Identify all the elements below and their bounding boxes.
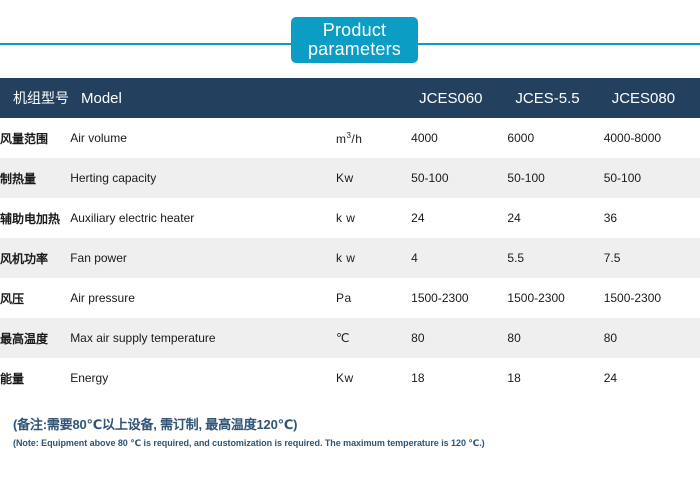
title-banner-zone: Product parameters — [0, 0, 700, 78]
row-value-jces-5-5: 5.5 — [507, 238, 603, 278]
footer-note-en: (Note: Equipment above 80 ℃ is required,… — [13, 438, 700, 449]
row-label-cn: 能量 — [0, 358, 70, 398]
product-parameters-table: 机组型号Model JCES060 JCES-5.5 JCES080 风量范围 … — [0, 78, 700, 398]
row-unit: Pa — [336, 278, 411, 318]
header-model-label-cn: 机组型号 — [13, 90, 69, 106]
page-title-chip: Product parameters — [291, 17, 418, 63]
row-value-jces-5-5: 1500-2300 — [507, 278, 603, 318]
table-body: 风量范围 Air volume m3/h 4000 6000 4000-8000… — [0, 118, 700, 398]
row-value-jces-5-5: 6000 — [507, 118, 603, 158]
row-label-en: Auxiliary electric heater — [70, 198, 336, 238]
row-unit: Kw — [336, 158, 411, 198]
row-label-en: Air pressure — [70, 278, 336, 318]
table-row: 风量范围 Air volume m3/h 4000 6000 4000-8000 — [0, 118, 700, 158]
row-value-jces060: 50-100 — [411, 158, 507, 198]
header-column-jces080: JCES080 — [604, 78, 700, 118]
row-label-en: Max air supply temperature — [70, 318, 336, 358]
footer-note-cn: (备注:需要80℃以上设备, 需订制, 最高温度120℃) — [13, 414, 700, 433]
row-value-jces060: 4 — [411, 238, 507, 278]
table-row: 最高温度 Max air supply temperature ℃ 80 80 … — [0, 318, 700, 358]
header-model-label-en: Model — [81, 90, 122, 107]
table-row: 辅助电加热 Auxiliary electric heater k w 24 2… — [0, 198, 700, 238]
table-row: 制热量 Herting capacity Kw 50-100 50-100 50… — [0, 158, 700, 198]
row-label-cn: 风机功率 — [0, 238, 70, 278]
row-unit: Kw — [336, 358, 411, 398]
row-label-en: Air volume — [70, 118, 336, 158]
table-header: 机组型号Model JCES060 JCES-5.5 JCES080 — [0, 78, 700, 118]
row-value-jces080: 50-100 — [604, 158, 700, 198]
row-unit: k w — [336, 238, 411, 278]
row-unit: ℃ — [336, 318, 411, 358]
row-label-cn: 风量范围 — [0, 118, 70, 158]
row-value-jces060: 1500-2300 — [411, 278, 507, 318]
row-value-jces080: 36 — [604, 198, 700, 238]
row-label-cn: 最高温度 — [0, 318, 70, 358]
row-label-en: Fan power — [70, 238, 336, 278]
header-model-cell: 机组型号Model — [0, 78, 336, 118]
row-value-jces-5-5: 24 — [507, 198, 603, 238]
row-value-jces060: 4000 — [411, 118, 507, 158]
header-column-jces-5-5: JCES-5.5 — [507, 78, 603, 118]
table-row: 能量 Energy Kw 18 18 24 — [0, 358, 700, 398]
row-value-jces080: 24 — [604, 358, 700, 398]
row-unit: k w — [336, 198, 411, 238]
row-value-jces060: 18 — [411, 358, 507, 398]
page-title-line2: parameters — [308, 40, 401, 59]
row-label-cn: 风压 — [0, 278, 70, 318]
footer-notes: (备注:需要80℃以上设备, 需订制, 最高温度120℃) (Note: Equ… — [0, 398, 700, 449]
table-row: 风压 Air pressure Pa 1500-2300 1500-2300 1… — [0, 278, 700, 318]
row-value-jces-5-5: 50-100 — [507, 158, 603, 198]
row-value-jces080: 7.5 — [604, 238, 700, 278]
row-value-jces060: 24 — [411, 198, 507, 238]
row-value-jces080: 4000-8000 — [604, 118, 700, 158]
row-unit: m3/h — [336, 118, 411, 158]
row-value-jces-5-5: 80 — [507, 318, 603, 358]
page-title-line1: Product — [323, 21, 386, 40]
row-value-jces080: 80 — [604, 318, 700, 358]
row-label-cn: 辅助电加热 — [0, 198, 70, 238]
row-label-en: Herting capacity — [70, 158, 336, 198]
row-label-cn: 制热量 — [0, 158, 70, 198]
row-value-jces060: 80 — [411, 318, 507, 358]
row-label-en: Energy — [70, 358, 336, 398]
row-value-jces-5-5: 18 — [507, 358, 603, 398]
table-header-row: 机组型号Model JCES060 JCES-5.5 JCES080 — [0, 78, 700, 118]
table-row: 风机功率 Fan power k w 4 5.5 7.5 — [0, 238, 700, 278]
header-unit-cell — [336, 78, 411, 118]
header-column-jces060: JCES060 — [411, 78, 507, 118]
row-value-jces080: 1500-2300 — [604, 278, 700, 318]
